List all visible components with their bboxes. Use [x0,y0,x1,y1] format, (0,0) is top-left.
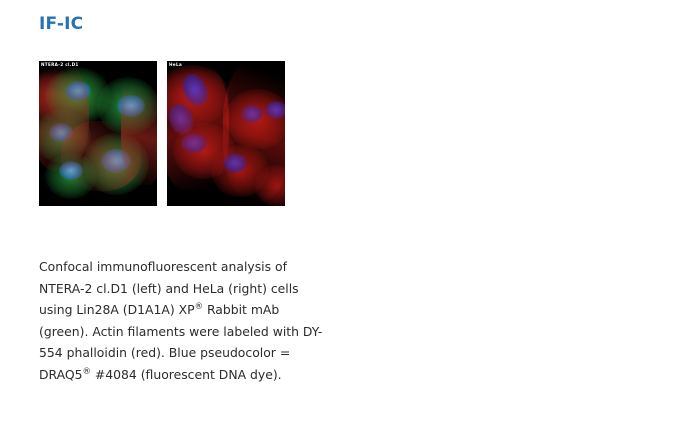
if-ic-heading: IF-IC [39,14,83,34]
micrograph-hela-tag: HeLa [169,62,182,68]
caption-line: XP [179,302,195,317]
micrograph-ntera2-tag: NTERA-2 cl.D1 [41,62,79,68]
caption-line: DRAQ5 [39,367,83,382]
caption-line: Confocal immunofluorescent analysis [39,259,271,274]
registered-mark: ® [83,365,91,375]
micrograph-hela-cells [167,61,285,206]
caption-line: #4084 (fluorescent DNA [91,367,246,382]
if-ic-image-group: NTERA-2 cl.D1 HeLa [39,61,287,206]
if-ic-column: IF-IC NTERA-2 cl.D1 [0,0,345,441]
micrograph-hela: HeLa [167,61,285,206]
registered-mark: ® [195,301,203,311]
micrograph-ntera2-cells [39,61,157,206]
caption-line: dye). [250,367,282,382]
caption-line: phalloidin (red). Blue pseudocolor = [67,345,291,360]
if-ic-caption: Confocal immunofluorescent analysis of N… [39,256,323,385]
micrograph-ntera2: NTERA-2 cl.D1 [39,61,157,206]
western-blotting-column: Western Blotting kDa 200 140 100 80 60 5… [345,0,690,441]
